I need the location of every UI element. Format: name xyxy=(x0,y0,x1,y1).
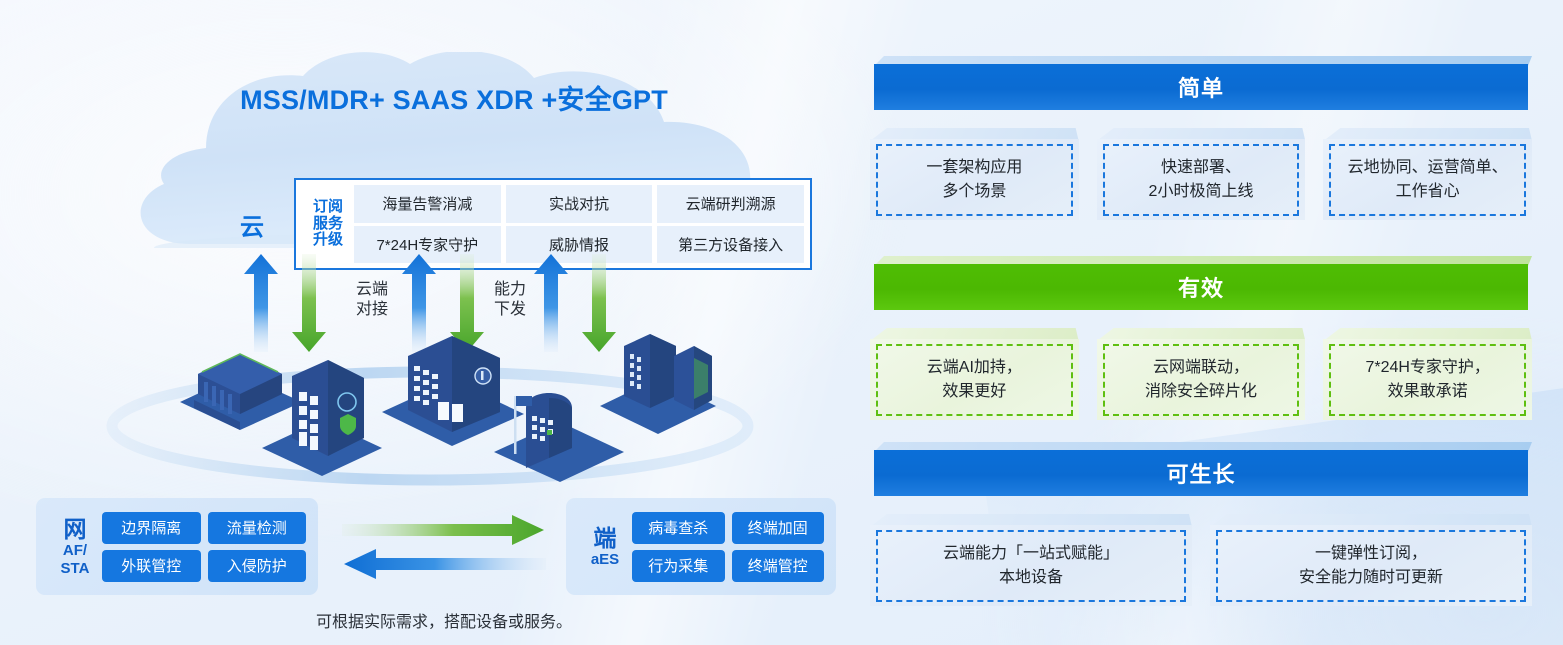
flow-label-capability-delivery: 能力 下发 xyxy=(480,280,540,320)
card-text-line-2: 消除安全碎片化 xyxy=(1145,383,1257,400)
benefit-card[interactable]: 快速部署、 2小时极简上线 xyxy=(1097,128,1306,220)
bidirectional-arrow-icon xyxy=(336,512,552,588)
card-text-line-1: 云网端联动， xyxy=(1153,359,1249,376)
card-text-line-1: 快速部署、 xyxy=(1161,159,1241,176)
card-body: 7*24H专家守护， 效果敢承诺 xyxy=(1323,339,1532,420)
benefit-card-row: 云端能力「一站式赋能」 本地设备 一键弹性订阅， 安全能力随时可更新 xyxy=(870,514,1532,606)
card-text-line-1: 7*24H专家守护， xyxy=(1365,359,1489,376)
capability-chip[interactable]: 入侵防护 xyxy=(208,550,307,582)
card-body: 一键弹性订阅， 安全能力随时可更新 xyxy=(1210,525,1532,606)
horizontal-exchange-arrows xyxy=(336,512,552,588)
svc-label-line-3: 升级 xyxy=(313,232,343,249)
endpoint-chip-grid: 病毒查杀 终端加固 行为采集 终端管控 xyxy=(632,512,824,582)
network-label-sub-1: AF/ xyxy=(48,543,102,559)
benefit-card-row: 一套架构应用 多个场景 快速部署、 2小时极简上线 xyxy=(870,128,1532,220)
endpoint-capability-panel: 端 aES 病毒查杀 终端加固 行为采集 终端管控 xyxy=(566,498,836,595)
benefit-header-growable: 可生长 xyxy=(870,442,1532,496)
capability-chip[interactable]: 外联管控 xyxy=(102,550,201,582)
card-body: 云地协同、运营简单、 工作省心 xyxy=(1323,139,1532,220)
benefit-header-effective: 有效 xyxy=(870,256,1532,310)
flow-label-cloud-docking: 云端 对接 xyxy=(342,280,402,320)
endpoint-label-sub-1: aES xyxy=(578,552,632,568)
building-civic xyxy=(382,336,524,446)
cloud-region: MSS/MDR+ SAAS XDR +安全GPT 云 订阅 服务 升级 海量告警… xyxy=(98,52,810,248)
network-panel-label: 网 AF/ STA xyxy=(48,517,102,577)
flow-label-line-1: 能力 xyxy=(494,281,526,298)
capability-chip[interactable]: 行为采集 xyxy=(632,550,725,582)
benefit-card[interactable]: 云网端联动， 消除安全碎片化 xyxy=(1097,328,1306,420)
card-body: 云网端联动， 消除安全碎片化 xyxy=(1097,339,1306,420)
service-cell[interactable]: 海量告警消减 xyxy=(354,185,501,223)
benefit-header-simple: 简单 xyxy=(870,56,1532,110)
capability-chip[interactable]: 边界隔离 xyxy=(102,512,201,544)
capability-chip[interactable]: 流量检测 xyxy=(208,512,307,544)
service-cell[interactable]: 实战对抗 xyxy=(506,185,653,223)
network-chip-grid: 边界隔离 流量检测 外联管控 入侵防护 xyxy=(102,512,306,582)
benefit-card[interactable]: 云地协同、运营简单、 工作省心 xyxy=(1323,128,1532,220)
capability-chip[interactable]: 终端加固 xyxy=(732,512,825,544)
cloud-side-label: 云 xyxy=(240,207,264,242)
benefit-header-title: 有效 xyxy=(874,264,1528,310)
svc-label-line-2: 服务 xyxy=(313,216,343,233)
benefit-group-growable: 可生长 云端能力「一站式赋能」 本地设备 一键弹性订阅， 安全能力随 xyxy=(870,442,1532,606)
benefit-header-title: 可生长 xyxy=(874,450,1528,496)
card-body: 云端能力「一站式赋能」 本地设备 xyxy=(870,525,1192,606)
benefit-card[interactable]: 一套架构应用 多个场景 xyxy=(870,128,1079,220)
capability-chip[interactable]: 终端管控 xyxy=(732,550,825,582)
diagram-caption: 可根据实际需求，搭配设备或服务。 xyxy=(238,608,650,632)
benefit-header-title: 简单 xyxy=(874,64,1528,110)
isometric-city-illustration xyxy=(90,330,770,490)
benefit-card[interactable]: 一键弹性订阅， 安全能力随时可更新 xyxy=(1210,514,1532,606)
card-body: 一套架构应用 多个场景 xyxy=(870,139,1079,220)
benefit-group-simple: 简单 一套架构应用 多个场景 快速部署、 2小时极简上线 xyxy=(870,56,1532,220)
card-text-line-2: 2小时极简上线 xyxy=(1149,183,1254,200)
card-text-line-2: 安全能力随时可更新 xyxy=(1299,569,1443,586)
network-label-big: 网 xyxy=(48,517,102,541)
card-text-line-2: 本地设备 xyxy=(999,569,1063,586)
benefit-card[interactable]: 云端能力「一站式赋能」 本地设备 xyxy=(870,514,1192,606)
card-text-line-1: 云地协同、运营简单、 xyxy=(1348,159,1508,176)
card-text-line-2: 工作省心 xyxy=(1396,183,1460,200)
benefits-panel-column: 简单 一套架构应用 多个场景 快速部署、 2小时极简上线 xyxy=(862,0,1563,645)
network-label-sub-2: STA xyxy=(48,561,102,577)
svc-label-line-1: 订阅 xyxy=(313,199,343,216)
card-text-line-2: 效果敢承诺 xyxy=(1388,383,1468,400)
flow-label-line-2: 对接 xyxy=(356,301,388,318)
card-text-line-1: 一键弹性订阅， xyxy=(1315,545,1427,562)
benefit-group-effective: 有效 云端AI加持， 效果更好 云网端联动， 消除安全碎片化 xyxy=(870,256,1532,420)
city-buildings-icon xyxy=(90,330,770,490)
endpoint-label-big: 端 xyxy=(578,526,632,550)
card-body: 云端AI加持， 效果更好 xyxy=(870,339,1079,420)
flow-label-line-2: 下发 xyxy=(494,301,526,318)
endpoint-panel-label: 端 aES xyxy=(578,526,632,568)
card-text-line-1: 一套架构应用 xyxy=(926,159,1022,176)
benefit-card-row: 云端AI加持， 效果更好 云网端联动， 消除安全碎片化 xyxy=(870,328,1532,420)
service-cell[interactable]: 云端研判溯源 xyxy=(657,185,804,223)
card-text-line-1: 云端能力「一站式赋能」 xyxy=(943,545,1119,562)
card-text-line-2: 多个场景 xyxy=(942,183,1006,200)
benefit-card[interactable]: 云端AI加持， 效果更好 xyxy=(870,328,1079,420)
service-cell[interactable]: 第三方设备接入 xyxy=(657,226,804,264)
benefit-card[interactable]: 7*24H专家守护， 效果敢承诺 xyxy=(1323,328,1532,420)
card-text-line-1: 云端AI加持， xyxy=(927,359,1022,376)
architecture-diagram: MSS/MDR+ SAAS XDR +安全GPT 云 订阅 服务 升级 海量告警… xyxy=(0,0,860,645)
cloud-title: MSS/MDR+ SAAS XDR +安全GPT xyxy=(98,78,810,117)
flow-label-line-1: 云端 xyxy=(356,281,388,298)
network-capability-panel: 网 AF/ STA 边界隔离 流量检测 外联管控 入侵防护 xyxy=(36,498,318,595)
building-government xyxy=(180,354,302,430)
card-text-line-2: 效果更好 xyxy=(942,383,1006,400)
card-body: 快速部署、 2小时极简上线 xyxy=(1097,139,1306,220)
capability-chip[interactable]: 病毒查杀 xyxy=(632,512,725,544)
